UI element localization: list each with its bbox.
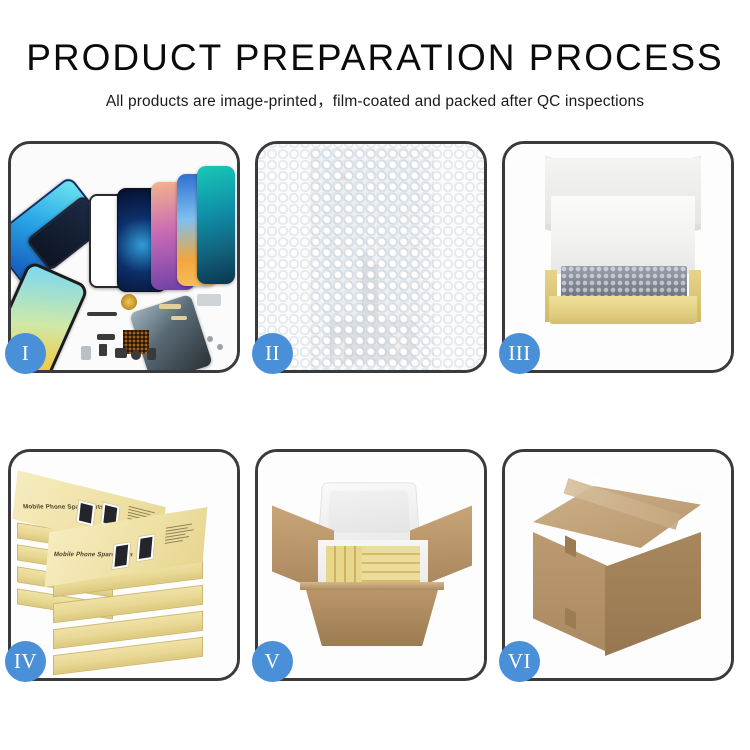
part-bracket <box>81 346 91 360</box>
step-panel-5: V <box>255 449 487 681</box>
page-subtitle: All products are image-printed，film-coat… <box>0 76 750 111</box>
step-2-image <box>258 144 484 370</box>
step-6-image <box>505 452 731 678</box>
part-button <box>99 344 107 356</box>
step-panel-3: III <box>502 141 734 373</box>
box-tray-front <box>549 296 697 324</box>
carton-rim <box>300 582 444 590</box>
step-5-image <box>258 452 484 678</box>
process-steps-grid: I II <box>8 141 734 681</box>
box-window-front-2 <box>136 533 156 562</box>
step-panel-1: I <box>8 141 240 373</box>
step-badge-4: IV <box>5 641 46 682</box>
step-panel-6: VI <box>502 449 734 681</box>
box-window-back-1 <box>76 499 97 527</box>
bubble-wrap-bag <box>310 148 434 370</box>
step-badge-2: II <box>252 333 293 374</box>
step-badge-1: I <box>5 333 46 374</box>
box-spec-lines-front <box>165 523 197 546</box>
part-speaker-coil <box>121 294 137 310</box>
part-tool-tweezers <box>197 294 221 306</box>
step-badge-5: V <box>252 641 293 682</box>
part-flex-cable-1 <box>159 304 181 309</box>
part-connector <box>97 334 115 340</box>
box-window-front-1 <box>111 541 131 570</box>
step-4-image: Mobile Phone Spare Parts Mobile Phone Sp… <box>11 452 237 678</box>
step-badge-6: VI <box>499 641 540 682</box>
step-panel-2: II <box>255 141 487 373</box>
step-panel-4: Mobile Phone Spare Parts Mobile Phone Sp… <box>8 449 240 681</box>
part-screw-1 <box>207 336 213 342</box>
foam-box-lid-inset <box>328 490 411 532</box>
step-3-image <box>505 144 731 370</box>
part-earpiece <box>87 312 117 316</box>
page-title: PRODUCT PREPARATION PROCESS <box>0 0 750 76</box>
product-preparation-infographic: PRODUCT PREPARATION PROCESS All products… <box>0 0 750 750</box>
phone-teal-gradient <box>197 166 235 284</box>
box-stack: Mobile Phone Spare Parts Mobile Phone Sp… <box>11 452 237 678</box>
bubble-wrapped-item <box>561 266 687 300</box>
step-badge-3: III <box>499 333 540 374</box>
part-screw-2 <box>217 344 223 350</box>
part-flex-cable-2 <box>171 316 187 320</box>
step-1-image <box>11 144 237 370</box>
header: PRODUCT PREPARATION PROCESS All products… <box>0 0 750 111</box>
part-camera <box>115 348 127 358</box>
part-sim-tray <box>147 348 156 360</box>
part-vibrator <box>131 350 141 360</box>
carton-body <box>306 590 438 646</box>
carton-right-face <box>605 532 701 656</box>
foam-sheet <box>551 196 695 274</box>
